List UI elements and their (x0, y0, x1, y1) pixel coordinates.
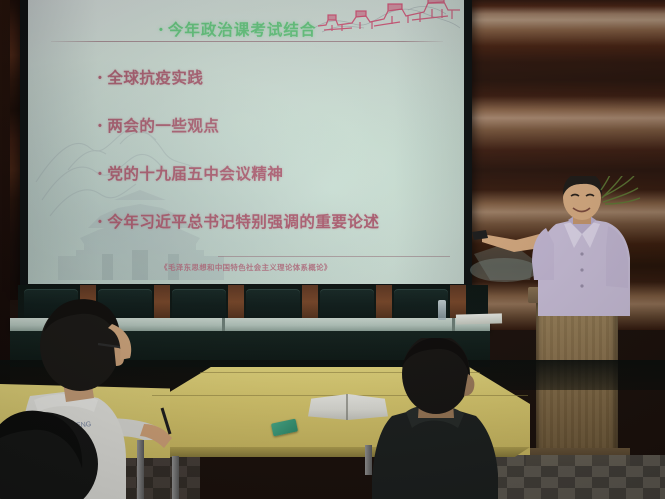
slide-title-text: 今年政治课考试结合 (168, 22, 317, 39)
slide-title-bullet-icon: • (159, 24, 164, 36)
bullet-marker-icon: • (98, 120, 102, 132)
list-item: •党的十九届五中会议精神 (98, 162, 448, 184)
bullet-text: 今年习近平总书记特别强调的重要论述 (107, 214, 379, 231)
lecture-room-photo: •今年政治课考试结合 •全球抗疫实践 •两会的一些观点 •党的十九届五中会议精神… (0, 0, 665, 499)
water-bottle (438, 300, 446, 320)
slide-footer-divider (218, 256, 450, 257)
desk-seam (222, 318, 225, 331)
slide-title: •今年政治课考试结合 (159, 18, 316, 40)
tile-floor-right (490, 455, 665, 499)
bullet-text: 两会的一些观点 (107, 118, 219, 135)
bullet-marker-icon: • (98, 216, 102, 228)
bullet-text: 党的十九届五中会议精神 (107, 166, 283, 183)
student-center (370, 338, 500, 499)
list-item: •今年习近平总书记特别强调的重要论述 (98, 210, 448, 232)
lecturer (470, 176, 660, 316)
list-item: •全球抗疫实践 (98, 66, 448, 88)
slide-footer-text: 《毛泽东思想和中国特色社会主义理论体系概论》 (28, 262, 464, 273)
desk-seam (452, 318, 455, 331)
podium (536, 303, 618, 455)
bullet-marker-icon: • (98, 168, 102, 180)
projection-screen: •今年政治课考试结合 •全球抗疫实践 •两会的一些观点 •党的十九届五中会议精神… (28, 0, 464, 284)
bullet-text: 全球抗疫实践 (107, 70, 203, 87)
slide-title-divider (51, 41, 443, 42)
slide-bullet-list: •全球抗疫实践 •两会的一些观点 •党的十九届五中会议精神 •今年习近平总书记特… (98, 66, 448, 258)
book-spine (346, 394, 348, 420)
bullet-marker-icon: • (98, 72, 102, 84)
list-item: •两会的一些观点 (98, 114, 448, 136)
great-wall-decoration-icon (312, 0, 462, 40)
student-foreground-head (0, 392, 110, 499)
